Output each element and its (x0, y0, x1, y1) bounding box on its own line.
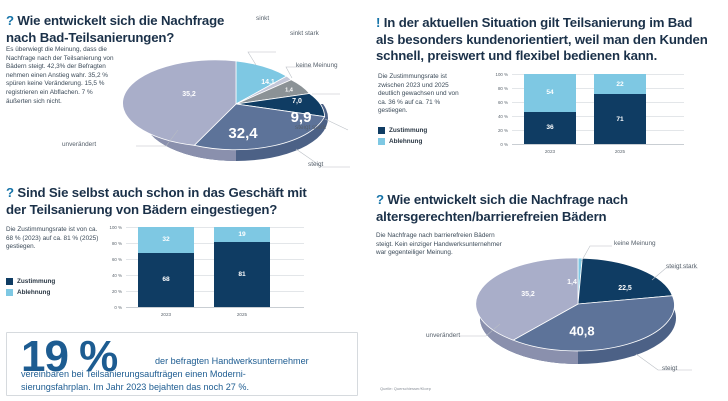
panel3-ytick-60: 60 % (96, 257, 122, 262)
pie4-value-keine-meinung: 1,4 (567, 279, 577, 286)
pie1-leader-steigt-stark (325, 119, 348, 130)
pie4-label-steigt-stark: steigt stark (666, 263, 697, 270)
panel3-description: Die Zustimmungsrate ist von ca. 68 % (20… (6, 226, 102, 252)
legend-swatch-icon (378, 138, 385, 145)
callout-text-line2: vereinbaren bei Teilsanierungsaufträgen … (21, 369, 246, 379)
panel2-bar-chart: 100 % 80 % 60 % 40 % 20 % 0 % 54 36 22 7… (484, 74, 714, 166)
pie4-value-steigt: 40,8 (569, 323, 594, 338)
pie1-label-keine-meinung: keine Meinung (296, 62, 338, 69)
panel3-bar-2023-ablehnung: 32 (138, 227, 194, 253)
panel2-bar-2023[interactable]: 54 36 (524, 74, 576, 144)
panel3-ytick-100: 100 % (96, 225, 122, 230)
panel3-headline-line1: Sind Sie selbst auch schon in das Geschä… (17, 185, 306, 200)
panel2-headline-line2: als besonders kundenorientiert, weil man… (376, 32, 708, 47)
panel3-headline-line2: der Teilsanierung von Bädern eingestiege… (6, 202, 277, 217)
panel2-legend-item-ablehnung: Ablehnung (378, 138, 427, 145)
question-marker: ? (376, 192, 384, 207)
panel2-bar-2023-zustimmung-value: 36 (546, 124, 553, 131)
panel3-bar-2023-ablehnung-value: 32 (162, 236, 169, 243)
panel2-bar-2025-zustimmung-value: 71 (616, 116, 623, 123)
panel4-headline: ? Wie entwickelt sich die Nachfrage nach… (376, 192, 706, 225)
panel2-description: Die Zustimmungsrate ist zwischen 2023 un… (378, 73, 466, 116)
panel3-headline: ? Sind Sie selbst auch schon in das Gesc… (6, 185, 336, 218)
panel3-ytick-20: 20 % (96, 289, 122, 294)
panel1-description: Es überwiegt die Meinung, dass die Nachf… (6, 46, 118, 106)
panel3-bar-2023[interactable]: 32 68 (138, 227, 194, 307)
panel-demand-partial-renovation: ? Wie entwickelt sich die Nachfrage nach… (0, 0, 364, 180)
panel2-ytick-100: 100 % (484, 72, 508, 77)
source-credit: Quelle: Querschiesser/Kloep (380, 386, 431, 391)
panel2-legend-label-1: Ablehnung (389, 138, 422, 145)
panel2-ytick-20: 20 % (484, 128, 508, 133)
legend-swatch-icon (378, 127, 385, 134)
callout-text-line3: sierungsfahrplan. Im Jahr 2023 bejahten … (21, 382, 249, 392)
panel4-pie-chart: 1,4 22,5 40,8 35,2 (460, 232, 710, 382)
panel2-ytick-60: 60 % (484, 100, 508, 105)
panel3-xlabel-2023: 2023 (138, 312, 194, 317)
panel3-ytick-0: 0 % (96, 305, 122, 310)
callout-text: der befragten Handwerksunternehmer verei… (21, 355, 351, 394)
panel2-ytick-40: 40 % (484, 114, 508, 119)
panel3-ytick-40: 40 % (96, 273, 122, 278)
panel2-headline-line3: schnell, preiswert und flexibel bedienen… (376, 48, 657, 63)
panel3-bar-2025-ablehnung: 19 (214, 227, 270, 242)
panel3-bar-2025-zustimmung-value: 81 (238, 271, 245, 278)
panel4-headline-line1: Wie entwickelt sich die Nachfrage nach (387, 192, 627, 207)
panel2-bar-2025[interactable]: 22 71 (594, 74, 646, 144)
panel2-bar-2023-zustimmung: 36 (524, 112, 576, 144)
axis-line (512, 144, 684, 145)
panel2-headline: ! In der aktuellen Situation gilt Teilsa… (376, 15, 724, 65)
pie1-value-steigt: 32,4 (228, 125, 258, 142)
pie1-leader-sinkt (248, 52, 276, 65)
panel3-statistic-callout: 19 % der befragten Handwerksunternehmer … (6, 332, 358, 396)
pie4-label-unveraendert: unverändert (426, 332, 460, 339)
panel1-headline-line1: Wie entwickelt sich die Nachfrage (17, 13, 224, 28)
panel2-ytick-0: 0 % (484, 142, 508, 147)
panel3-bar-chart: 100 % 80 % 60 % 40 % 20 % 0 % 32 68 19 8… (96, 227, 336, 327)
pie1-label-steigt: steigt (308, 161, 323, 168)
panel-own-business-entry: ? Sind Sie selbst auch schon in das Gesc… (0, 180, 364, 401)
panel3-legend-item-ablehnung: Ablehnung (6, 289, 55, 296)
panel2-bar-2023-ablehnung: 54 (524, 74, 576, 112)
panel3-xlabel-2025: 2025 (214, 312, 270, 317)
pie1-label-sinkt: sinkt (256, 15, 269, 22)
pie4-label-keine-meinung: keine Meinung (614, 240, 656, 247)
panel3-legend-item-zustimmung: Zustimmung (6, 278, 55, 285)
panel3-legend-label-1: Ablehnung (17, 289, 50, 296)
pie4-value-steigt-stark: 22,5 (618, 285, 632, 292)
pie1-value-unveraendert: 35,2 (182, 91, 196, 98)
panel3-bar-2023-zustimmung-value: 68 (162, 276, 169, 283)
question-marker: ? (6, 13, 14, 28)
panel3-bar-2025[interactable]: 19 81 (214, 227, 270, 307)
panel2-headline-line1: In der aktuellen Situation gilt Teilsani… (384, 15, 693, 30)
panel2-xlabel-2025: 2025 (594, 149, 646, 154)
panel2-legend-label-0: Zustimmung (389, 127, 427, 134)
exclamation-marker: ! (376, 15, 380, 30)
panel2-bar-2025-ablehnung: 22 (594, 74, 646, 94)
legend-swatch-icon (6, 278, 13, 285)
pie1-label-steigt-stark: steigt stark (295, 124, 326, 131)
pie1-value-sinkt: 14,1 (261, 79, 275, 86)
pie1-label-unveraendert: unverändert (62, 141, 96, 148)
panel-customer-oriented-statement: ! In der aktuellen Situation gilt Teilsa… (364, 0, 728, 180)
panel4-headline-line2: altersgerechten/barrierefreien Bädern (376, 209, 606, 224)
question-marker: ? (6, 185, 14, 200)
pie1-value-sinkt-stark: 1,4 (285, 87, 294, 93)
panel2-bar-2025-ablehnung-value: 22 (616, 81, 623, 88)
panel2-xlabel-2023: 2023 (524, 149, 576, 154)
legend-swatch-icon (6, 289, 13, 296)
panel2-legend: Zustimmung Ablehnung (378, 127, 427, 149)
pie4-value-unveraendert: 35,2 (521, 291, 535, 298)
pie1-label-sinkt-stark: sinkt stark (290, 30, 319, 37)
panel3-ytick-80: 80 % (96, 241, 122, 246)
panel2-ytick-80: 80 % (484, 86, 508, 91)
panel2-legend-item-zustimmung: Zustimmung (378, 127, 427, 134)
panel3-legend-label-0: Zustimmung (17, 278, 55, 285)
axis-line (126, 307, 304, 308)
panel3-bar-2025-zustimmung: 81 (214, 242, 270, 307)
panel2-bar-2025-zustimmung: 71 (594, 94, 646, 144)
panel3-bar-2023-zustimmung: 68 (138, 253, 194, 307)
panel1-pie-chart: 14,1 1,4 7,0 9,9 32,4 35,2 (126, 34, 356, 174)
panel2-bar-2023-ablehnung-value: 54 (546, 89, 553, 96)
pie1-value-keine-meinung: 7,0 (292, 98, 302, 105)
callout-text-lead: der befragten Handwerksunternehmer (21, 355, 351, 368)
pie4-label-steigt: steigt (662, 365, 677, 372)
panel3-bar-2025-ablehnung-value: 19 (238, 231, 245, 238)
panel3-legend: Zustimmung Ablehnung (6, 278, 55, 300)
panel-demand-barrier-free-bathrooms: ? Wie entwickelt sich die Nachfrage nach… (364, 180, 728, 401)
